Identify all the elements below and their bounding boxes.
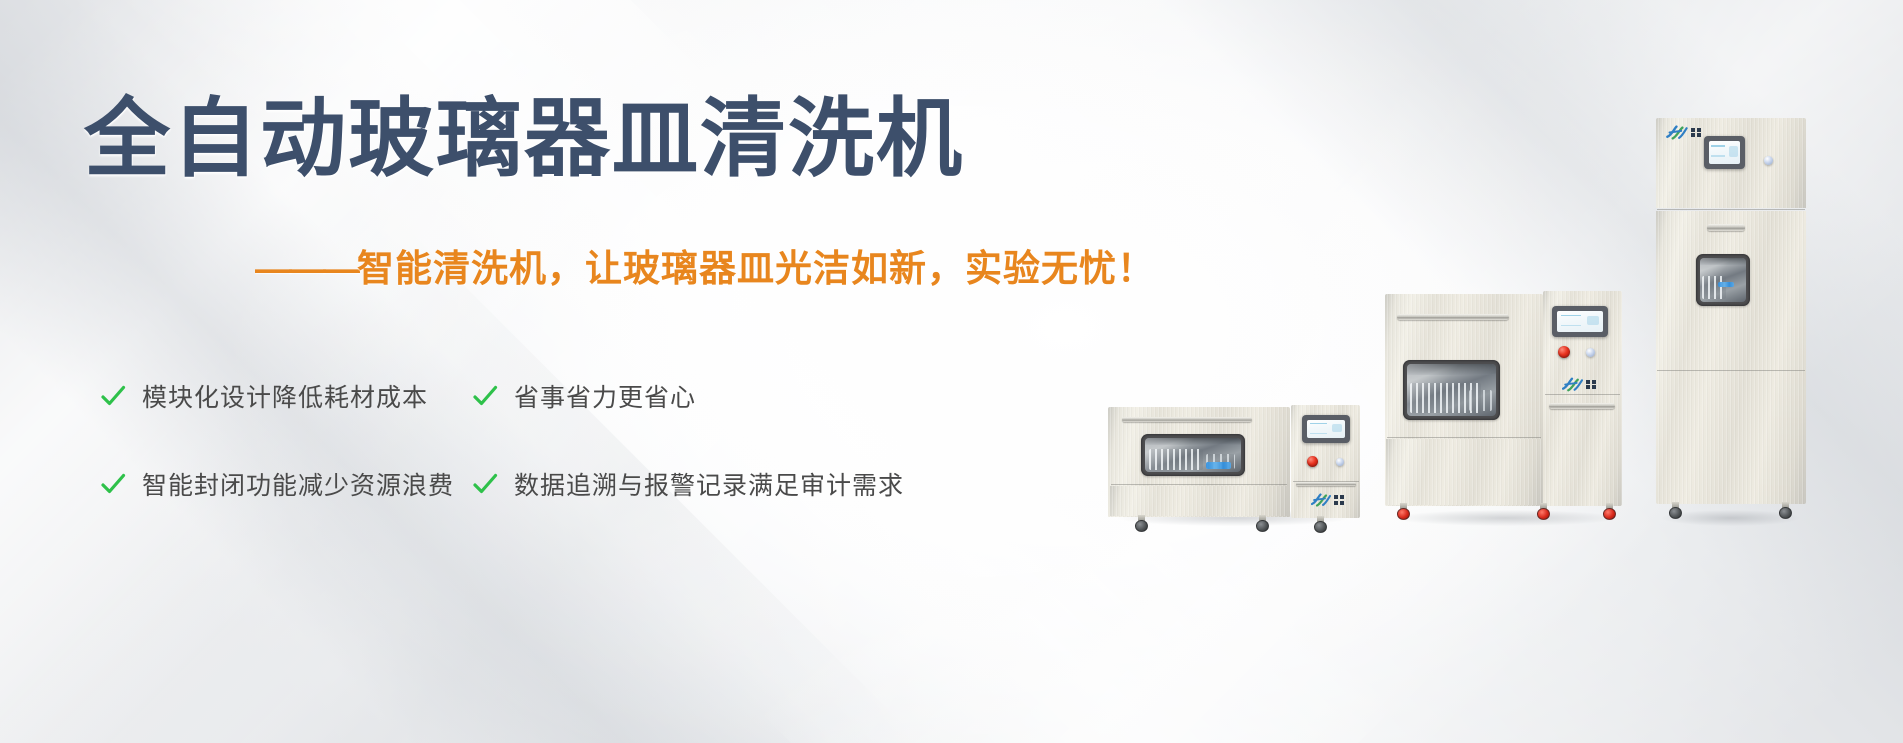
- product-undercounter-washer: [1108, 405, 1360, 520]
- brand-h-mark: [1562, 377, 1583, 392]
- panel-seam: [1657, 209, 1805, 210]
- lower-access-door: [1386, 439, 1542, 505]
- touchscreen[interactable]: [1704, 136, 1745, 169]
- caster-wheel: [1669, 502, 1682, 519]
- panel-seam: [1111, 484, 1287, 485]
- caster-wheel: [1397, 503, 1410, 520]
- brand-dots-icon: [1691, 128, 1701, 138]
- brand-dots-icon: [1334, 495, 1344, 505]
- product-hero-banner: 全自动玻璃器皿清洗机 ———智能清洗机，让玻璃器皿光洁如新，实验无忧！ 模块化设…: [0, 0, 1903, 743]
- caster-wheel: [1779, 502, 1792, 519]
- caster-wheel: [1314, 516, 1327, 533]
- door-handle: [1122, 417, 1252, 422]
- tower-door-handle: [1549, 403, 1615, 409]
- power-button[interactable]: [1764, 156, 1773, 165]
- emergency-stop-button[interactable]: [1558, 346, 1570, 358]
- caster-wheel: [1135, 515, 1148, 532]
- panel-seam: [1387, 437, 1541, 438]
- product-freestanding-washer: [1385, 282, 1627, 520]
- panel-seam: [1657, 370, 1805, 371]
- door-handle: [1707, 224, 1745, 231]
- emergency-stop-button[interactable]: [1307, 456, 1318, 467]
- h-brand-logo: [1562, 377, 1596, 392]
- product-tall-column-washer: [1656, 118, 1806, 520]
- caster-wheel: [1256, 515, 1269, 532]
- tower-door-handle: [1296, 482, 1356, 486]
- glassware-load: [1407, 364, 1496, 416]
- touchscreen[interactable]: [1302, 415, 1350, 443]
- chamber-viewing-window: [1403, 360, 1500, 420]
- lower-access-door: [1110, 486, 1288, 516]
- caster-wheel: [1603, 503, 1616, 520]
- product-shadow: [1395, 510, 1618, 526]
- power-button[interactable]: [1586, 348, 1595, 357]
- caster-wheel: [1537, 503, 1550, 520]
- panel-seam: [1545, 394, 1620, 395]
- h-brand-logo: [1666, 125, 1701, 140]
- brand-h-mark: [1666, 125, 1688, 140]
- glassware-load: [1700, 258, 1746, 302]
- brand-dots-icon: [1586, 380, 1596, 390]
- door-handle: [1397, 314, 1509, 320]
- touchscreen[interactable]: [1552, 306, 1608, 337]
- brand-h-mark: [1311, 493, 1331, 507]
- chamber-viewing-window: [1696, 254, 1750, 306]
- chamber-viewing-window: [1141, 434, 1245, 476]
- h-brand-logo: [1311, 493, 1344, 507]
- power-button[interactable]: [1336, 458, 1344, 466]
- glassware-load: [1145, 438, 1241, 472]
- product-image-group: [0, 0, 1903, 743]
